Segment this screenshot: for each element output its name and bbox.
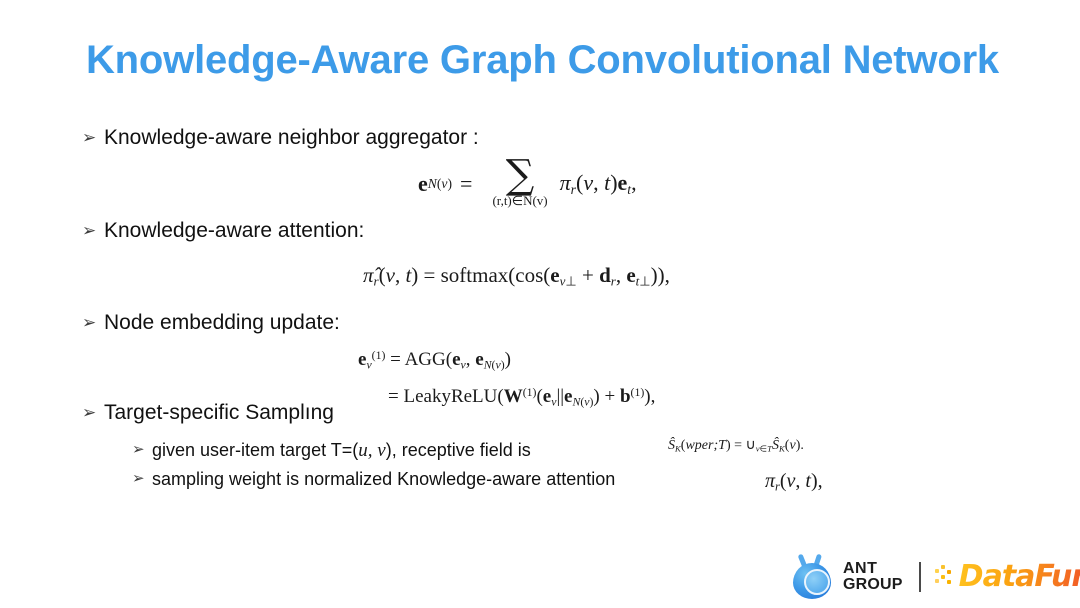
arrow-bullet-icon: ➢	[82, 314, 104, 331]
formula-aggregator: eN(v) = ∑ (r,t)∈N(v) πr(v, t)et,	[418, 158, 637, 209]
bullet-item-node-update: ➢ Node embedding update:	[82, 311, 340, 335]
formula-node-update: ev(1) = AGG(ev, eN(v)) = LeakyReLU(W(1)(…	[358, 341, 655, 415]
page-title: Knowledge-Aware Graph Convolutional Netw…	[86, 38, 999, 83]
arrow-bullet-icon: ➢	[132, 471, 152, 486]
formula-attention: π̂r(v, t) = softmax(cos(ev⊥ + dr, et⊥)),	[363, 263, 670, 290]
footer-logos: ANT GROUP DataFun.	[790, 552, 1080, 602]
formula-node-update-line2: = LeakyReLU(W(1)(ev||eN(v)) + b(1)),	[358, 378, 655, 415]
arrow-bullet-icon: ➢	[132, 442, 152, 457]
formula-sampling-weight: πr(v, t),	[765, 470, 823, 494]
arrow-bullet-icon: ➢	[82, 222, 104, 239]
sub-bullet-text-after: ), receptive field is	[386, 440, 531, 460]
arrow-bullet-icon: ➢	[82, 129, 104, 146]
datafun-dots-icon	[935, 565, 957, 589]
arrow-bullet-icon: ➢	[82, 404, 104, 421]
ant-group-wordmark: ANT GROUP	[843, 561, 903, 593]
sub-bullet-text-math: u, v	[358, 440, 385, 461]
ant-group-mascot-icon	[790, 554, 836, 600]
summation-limit: (r,t)∈N(v)	[492, 193, 547, 209]
formula-receptive-field: ŜK(wper;T) = ∪v∈TŜK(v).	[668, 437, 804, 454]
formula-node-update-line1: ev(1) = AGG(ev, eN(v))	[358, 341, 655, 378]
summation-symbol: ∑ (r,t)∈N(v)	[492, 158, 547, 209]
logo-divider	[919, 562, 921, 592]
bullet-label-attention: Knowledge-aware attention:	[104, 219, 364, 243]
sub-bullet-sampling-weight: ➢ sampling weight is normalized Knowledg…	[132, 469, 615, 490]
bullet-item-target-sampling: ➢ Target-specific Samplıng	[82, 401, 334, 425]
datafun-wordmark: DataFun.	[959, 562, 1080, 592]
bullet-label-node-update: Node embedding update:	[104, 311, 340, 335]
ant-group-line1: ANT	[843, 561, 903, 577]
ant-group-line2: GROUP	[843, 577, 903, 593]
sub-bullet-receptive-field: ➢ given user-item target T=(u, v), recep…	[132, 440, 531, 462]
ant-group-logo: ANT GROUP	[790, 554, 903, 600]
sub-bullet-label-receptive-field: given user-item target T=(u, v), recepti…	[152, 440, 531, 462]
bullet-item-aggregator: ➢ Knowledge-aware neighbor aggregator :	[82, 126, 479, 150]
sub-bullet-label-sampling-weight: sampling weight is normalized Knowledge-…	[152, 469, 615, 490]
slide-canvas: Knowledge-Aware Graph Convolutional Netw…	[0, 0, 1080, 608]
sub-bullet-text-before: given user-item target T=(	[152, 440, 358, 460]
bullet-label-target-sampling: Target-specific Samplıng	[104, 401, 334, 425]
datafun-logo: DataFun.	[935, 562, 1080, 592]
bullet-item-attention: ➢ Knowledge-aware attention:	[82, 219, 364, 243]
bullet-label-aggregator: Knowledge-aware neighbor aggregator :	[104, 126, 479, 150]
